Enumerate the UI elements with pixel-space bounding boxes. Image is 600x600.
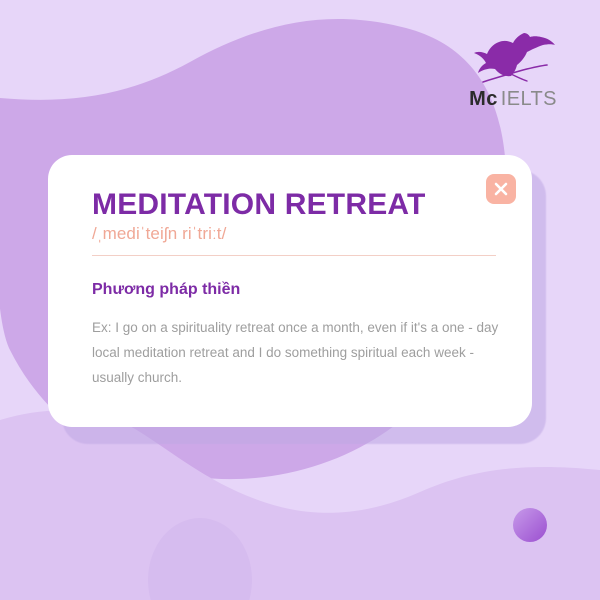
brand-logo: McIELTS bbox=[454, 24, 572, 109]
hummingbird-icon bbox=[469, 24, 557, 86]
brand-name-bold: Mc bbox=[469, 88, 498, 110]
translation-text: Phương pháp thiền bbox=[92, 280, 492, 299]
brand-name-light: IELTS bbox=[501, 88, 557, 110]
divider bbox=[92, 255, 496, 256]
vocabulary-card: MEDITATION RETREAT /ˌmediˈteiʃn riˈtriːt… bbox=[48, 155, 532, 427]
brand-wordmark: McIELTS bbox=[454, 89, 572, 109]
card-content: MEDITATION RETREAT /ˌmediˈteiʃn riˈtriːt… bbox=[92, 189, 492, 391]
accent-dot bbox=[513, 508, 547, 542]
phonetic-transcription: /ˌmediˈteiʃn riˈtriːt/ bbox=[92, 223, 492, 245]
flashcard-slide: McIELTS MEDITATION RETREAT /ˌmediˈteiʃn … bbox=[0, 0, 600, 600]
example-sentence: Ex: I go on a spirituality retreat once … bbox=[92, 316, 504, 391]
word-title: MEDITATION RETREAT bbox=[92, 189, 492, 221]
